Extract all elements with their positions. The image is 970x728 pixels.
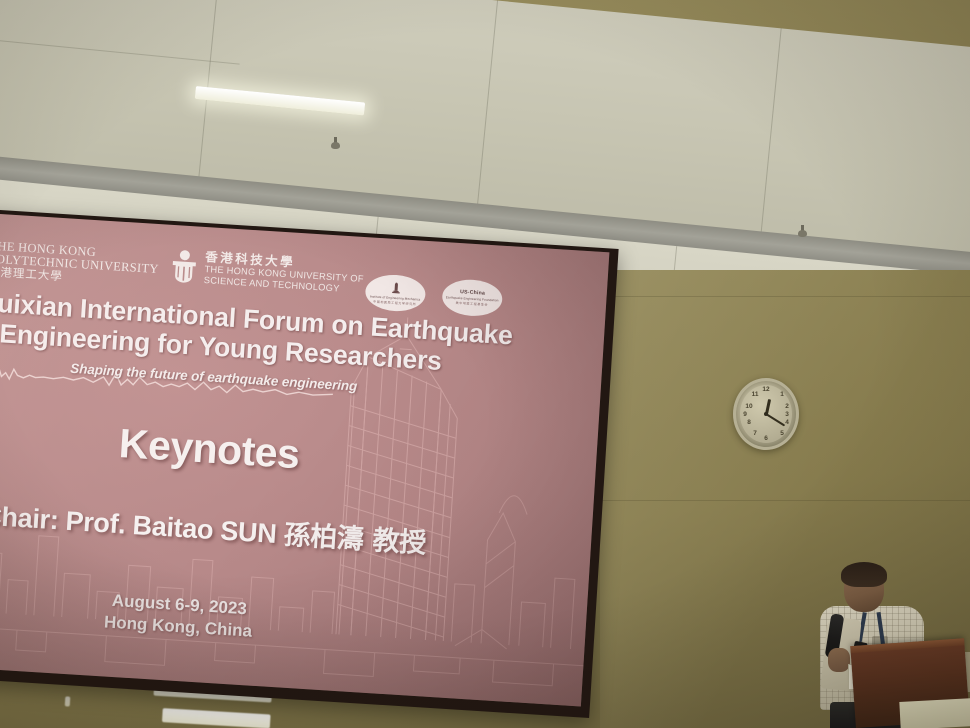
clock-numeral: 1	[777, 391, 787, 398]
clock-center-pin	[764, 412, 768, 416]
monument-icon	[388, 281, 404, 295]
clock-numeral: 6	[761, 435, 771, 442]
board-reflection	[65, 696, 71, 706]
sprinkler-head-icon	[798, 225, 807, 238]
clock-numeral: 2	[782, 403, 792, 410]
projection-screen: THE HONG KONG POLYTECHNIC UNIVERSITY 香港理…	[0, 205, 619, 718]
sprinkler-head-icon	[331, 137, 340, 150]
clock-numeral: 5	[777, 430, 787, 437]
speaker-hand	[828, 648, 850, 672]
wall-clock: 12 1 2 3 4 5 6 7 8 9 10 11	[733, 378, 799, 450]
us-china-footer: 美中地震工程基金会	[456, 301, 489, 307]
wall-seam	[600, 500, 970, 501]
clock-numeral: 8	[744, 419, 754, 426]
iem-logo: Institute of Engineering Mechanics 中国地震局…	[364, 273, 426, 313]
podium-papers	[899, 698, 970, 728]
clock-numeral: 10	[744, 403, 754, 410]
wall-seam	[600, 296, 970, 297]
hkust-emblem-icon	[170, 249, 199, 285]
presentation-room-photo: 12 1 2 3 4 5 6 7 8 9 10 11	[0, 0, 970, 728]
screen-surface: THE HONG KONG POLYTECHNIC UNIVERSITY 香港理…	[0, 209, 609, 706]
polyu-logo: THE HONG KONG POLYTECHNIC UNIVERSITY 香港理…	[0, 239, 160, 289]
clock-numeral: 7	[750, 430, 760, 437]
clock-numeral: 12	[761, 386, 771, 393]
speaker-hair	[841, 562, 887, 587]
board-reflection	[162, 708, 271, 728]
clock-face: 12 1 2 3 4 5 6 7 8 9 10 11	[740, 385, 792, 443]
us-china-logo: US-China Earthquake Engineering Foundati…	[441, 278, 503, 318]
clock-numeral: 3	[782, 411, 792, 418]
clock-numeral: 11	[750, 391, 760, 398]
clock-numeral: 9	[740, 411, 750, 418]
